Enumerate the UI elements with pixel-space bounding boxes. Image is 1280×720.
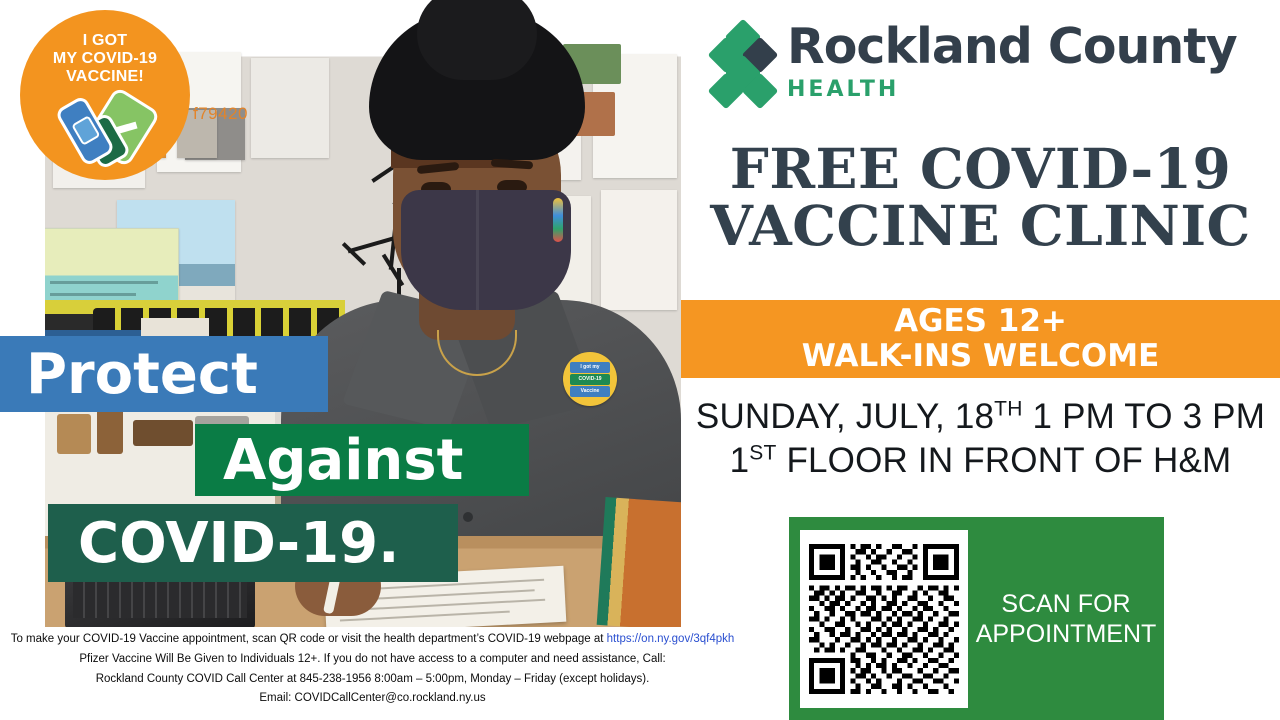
badge-line-1: I GOT	[83, 32, 128, 50]
diamond-logo-icon	[711, 22, 775, 108]
qr-label-line-2: APPOINTMENT	[974, 619, 1158, 649]
overlay-banner-against: Against	[195, 424, 529, 496]
footer-line-3: Rockland County COVID Call Center at 845…	[0, 670, 745, 690]
logo-subtitle: HEALTH	[787, 77, 1237, 102]
schedule-floor-number: 1	[730, 441, 750, 480]
footer-line-1: To make your COVID-19 Vaccine appointmen…	[0, 630, 745, 650]
qr-code-container[interactable]	[800, 530, 968, 708]
vaccine-badge: I GOT MY COVID-19 VACCINE!	[20, 10, 190, 180]
schedule-floor-ordinal: ST	[749, 441, 776, 464]
badge-line-2: MY COVID-19	[53, 50, 157, 68]
footer-line-1-text: To make your COVID-19 Vaccine appointmen…	[11, 633, 607, 645]
badge-line-3: VACCINE!	[66, 68, 144, 86]
sticker-line-3: Vaccine	[570, 386, 610, 397]
headline-line-2: VACCINE CLINIC	[681, 197, 1280, 254]
qr-code-icon[interactable]	[809, 544, 959, 694]
schedule-date-ordinal: TH	[994, 397, 1022, 420]
schedule-location: FLOOR IN FRONT OF H&M	[777, 441, 1232, 480]
sticker-line-2: COVID-19	[570, 374, 610, 385]
page-title: FREE COVID-19 VACCINE CLINIC	[681, 140, 1280, 254]
photo-watermark: f79420	[193, 104, 248, 124]
stacked-books	[597, 497, 681, 627]
bandaid-checkmark-icon	[62, 93, 148, 155]
vaccine-sticker: I got my COVID-19 Vaccine	[563, 352, 617, 406]
appointment-url-link[interactable]: https://on.ny.gov/3qf4pkh	[607, 633, 735, 645]
schedule-time: 1 PM TO 3 PM	[1023, 397, 1266, 436]
right-content-column: Rockland County HEALTH FREE COVID-19 VAC…	[681, 0, 1280, 627]
eligibility-line-1: AGES 12+	[894, 304, 1067, 339]
qr-label-line-1: SCAN FOR	[974, 589, 1158, 619]
logo-title: Rockland County	[787, 22, 1237, 71]
overlay-banner-protect: Protect	[0, 336, 328, 412]
eligibility-line-2: WALK-INS WELCOME	[802, 339, 1160, 374]
qr-appointment-panel[interactable]: SCAN FOR APPOINTMENT	[789, 517, 1164, 720]
sticker-line-1: I got my	[570, 362, 610, 373]
rockland-county-health-logo: Rockland County HEALTH	[711, 22, 1237, 108]
earring	[553, 198, 563, 242]
schedule-date-line: SUNDAY, JULY, 18TH 1 PM TO 3 PM	[681, 395, 1280, 439]
footer-line-2: Pfizer Vaccine Will Be Given to Individu…	[0, 650, 745, 670]
eligibility-banner: AGES 12+ WALK-INS WELCOME	[681, 300, 1280, 378]
footer-line-4: Email: COVIDCallCenter@co.rockland.ny.us	[0, 689, 745, 709]
footer-fine-print: To make your COVID-19 Vaccine appointmen…	[0, 627, 745, 720]
schedule-location-line: 1ST FLOOR IN FRONT OF H&M	[681, 439, 1280, 483]
vaccine-clinic-flyer: f79420	[0, 0, 1280, 720]
schedule-date-prefix: SUNDAY, JULY, 18	[696, 397, 994, 436]
person-hair-bun	[417, 0, 537, 80]
schedule-info: SUNDAY, JULY, 18TH 1 PM TO 3 PM 1ST FLOO…	[681, 395, 1280, 483]
face-mask	[401, 190, 571, 310]
overlay-banner-covid19: COVID-19.	[48, 504, 458, 582]
headline-line-1: FREE COVID-19	[681, 140, 1280, 197]
qr-label: SCAN FOR APPOINTMENT	[968, 589, 1164, 649]
